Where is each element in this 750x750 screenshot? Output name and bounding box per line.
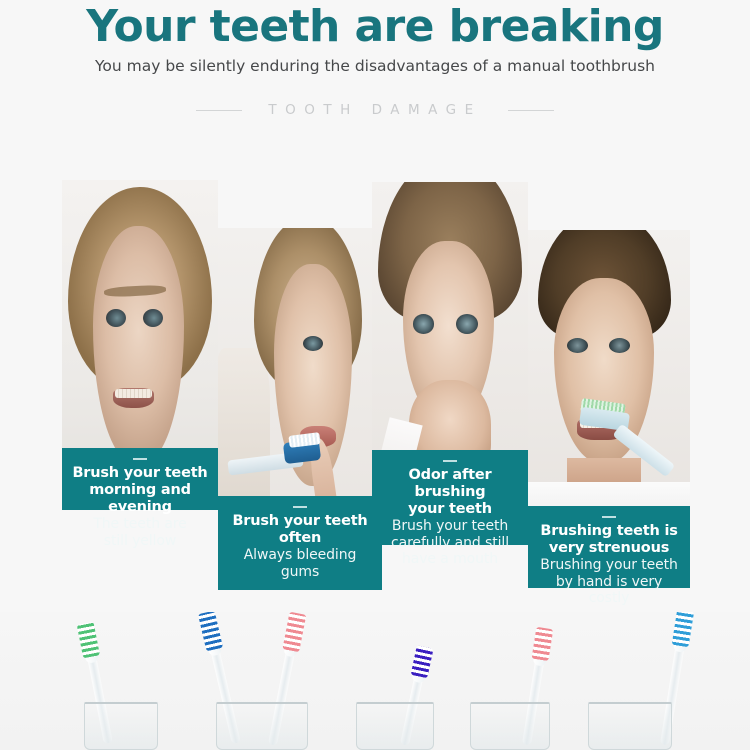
caption-sub-line3: have a mouth	[378, 551, 522, 568]
toothbrush-band	[0, 612, 750, 750]
caption-bad-odor: Odor after brushing your teeth Brush you…	[372, 450, 528, 545]
caption-sub-line1: The teeth are	[68, 516, 212, 533]
caption-headline-line1: Brush your teeth	[68, 465, 212, 482]
caption-bleeding-gums: Brush your teeth often Always bleeding g…	[218, 496, 382, 590]
caption-strenuous-brushing: Brushing teeth is very strenuous Brushin…	[528, 506, 690, 588]
panel-bleeding-gums	[218, 228, 382, 528]
caption-sub-line1: Always bleeding gums	[224, 547, 376, 580]
bristles-5	[532, 627, 554, 661]
bristles-1	[77, 622, 100, 659]
caption-headline-line1: Odor after brushing	[378, 467, 522, 501]
caption-sub-line2: carefully and still	[378, 535, 522, 552]
caption-sub-line2: by hand is very costly	[534, 574, 684, 607]
bristles-4	[411, 645, 434, 678]
caption-worried-woman: Brush your teeth morning and evening The…	[62, 448, 218, 510]
caption-tick-icon	[293, 506, 307, 508]
bristles-3	[282, 612, 306, 652]
caption-headline-line2: very strenuous	[534, 540, 684, 557]
bristles-2	[198, 612, 223, 651]
glass-5	[588, 702, 672, 750]
caption-headline-line1: Brush your teeth often	[224, 513, 376, 547]
caption-sub-line1: Brush your teeth	[378, 518, 522, 535]
panel-strenuous-brushing-photo	[528, 230, 690, 530]
caption-tick-icon	[133, 458, 147, 460]
caption-sub-line1: Brushing your teeth	[534, 557, 684, 574]
glass-4	[470, 702, 550, 750]
caption-headline-line1: Brushing teeth is	[534, 523, 684, 540]
glass-3	[356, 702, 434, 750]
caption-headline-line2: your teeth	[378, 501, 522, 518]
bristles-6	[672, 612, 694, 647]
glass-2	[216, 702, 308, 750]
caption-sub-line2: still yellow	[68, 533, 212, 550]
caption-tick-icon	[443, 460, 457, 462]
caption-tick-icon	[602, 516, 616, 518]
panel-bleeding-gums-photo	[218, 228, 382, 528]
caption-headline-line2: morning and evening	[68, 482, 212, 516]
panel-strenuous-brushing	[528, 230, 690, 530]
glass-1	[84, 702, 158, 750]
